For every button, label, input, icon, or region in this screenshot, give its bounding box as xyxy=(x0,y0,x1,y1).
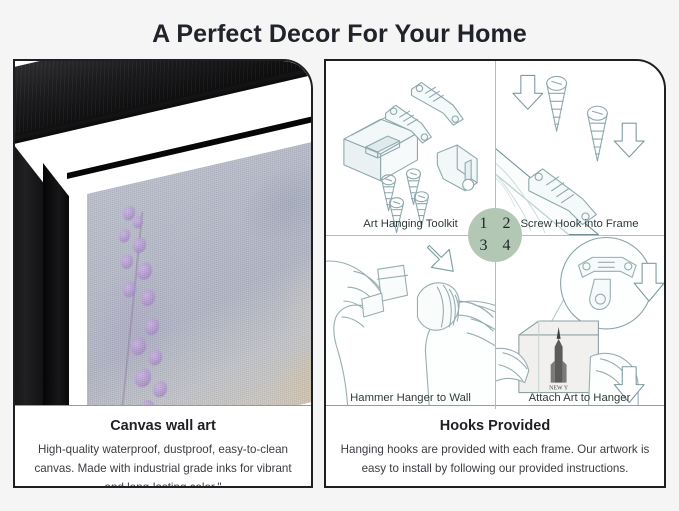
page-title: A Perfect Decor For Your Home xyxy=(0,20,679,49)
canvas-wall-art-panel: Canvas wall art High-quality waterproof,… xyxy=(13,59,313,488)
product-photo xyxy=(15,61,311,409)
frame-left-face xyxy=(15,131,43,409)
canvas-caption-heading: Canvas wall art xyxy=(29,418,297,434)
step-number-2: 2 xyxy=(495,208,522,235)
infographic-page: A Perfect Decor For Your Home xyxy=(0,0,679,511)
step-3-caption: Hammer Hanger to Wall xyxy=(326,392,495,404)
canvas-caption-block: Canvas wall art High-quality waterproof,… xyxy=(15,405,311,486)
canvas-caption-body: High-quality waterproof, dustproof, easy… xyxy=(29,441,297,488)
hooks-provided-panel: Art Hanging Toolkit xyxy=(324,59,666,488)
instruction-steps-grid: Art Hanging Toolkit xyxy=(326,61,664,409)
canvas-artwork-image xyxy=(87,134,311,409)
hooks-caption-heading: Hooks Provided xyxy=(340,418,650,434)
hooks-caption-body: Hanging hooks are provided with each fra… xyxy=(340,441,650,479)
step-number-3: 3 xyxy=(468,235,495,262)
svg-text:NEW Y: NEW Y xyxy=(549,386,569,392)
step-number-4: 4 xyxy=(495,235,522,262)
step-number-1: 1 xyxy=(468,208,495,235)
step-number-badge: 1 2 3 4 xyxy=(468,208,522,262)
hooks-caption-block: Hooks Provided Hanging hooks are provide… xyxy=(326,405,664,486)
step-4-caption: Attach Art to Hanger xyxy=(495,392,664,404)
frame-left-inner-face xyxy=(43,163,69,409)
